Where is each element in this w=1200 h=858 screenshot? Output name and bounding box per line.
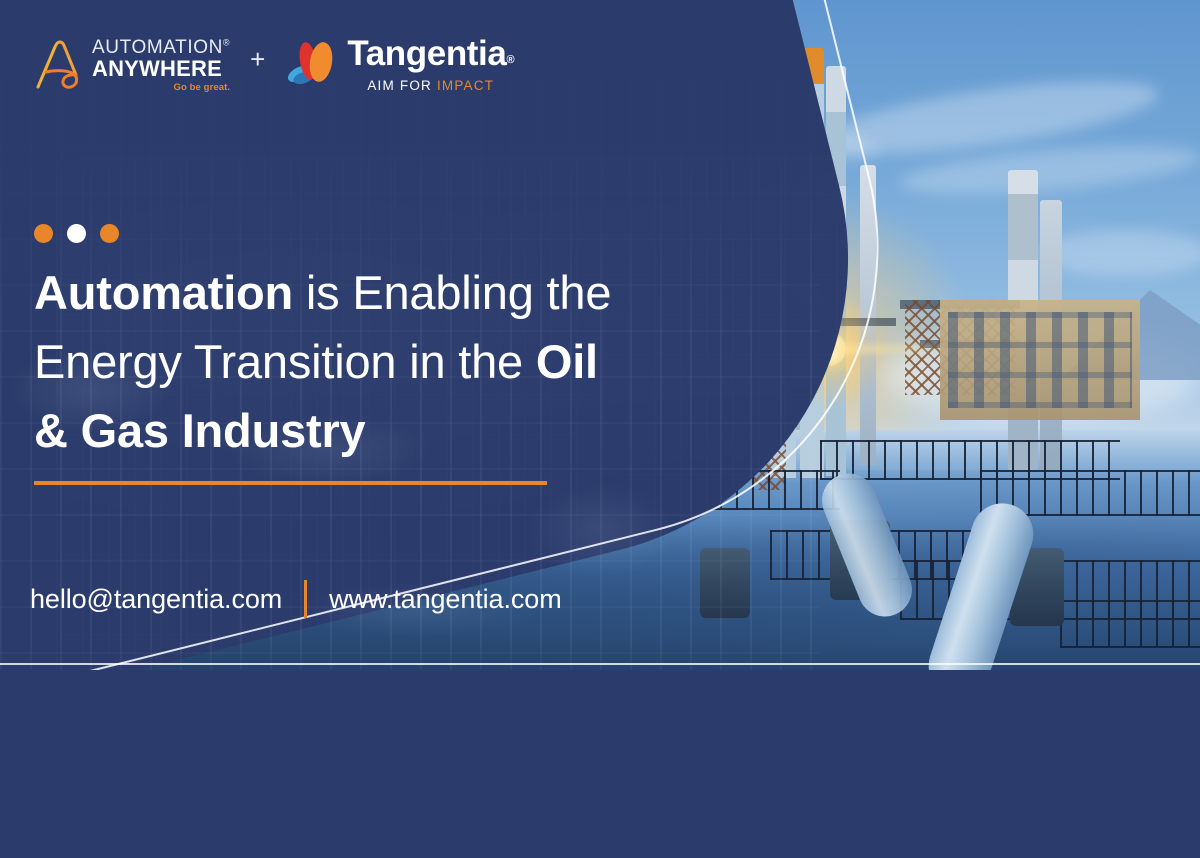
contact-email[interactable]: hello@tangentia.com [30,584,282,615]
dot-orange [100,224,119,243]
contact-bar: hello@tangentia.com www.tangentia.com [30,580,562,618]
slide-content: AUTOMATION® ANYWHERE Go be great. + Tang… [0,0,1200,858]
contact-divider [304,580,307,618]
registered-mark: ® [223,38,230,48]
automation-anywhere-logo[interactable]: AUTOMATION® ANYWHERE Go be great. [32,36,230,93]
registered-mark: ® [506,54,514,66]
tangentia-wordmark: Tangentia® [347,36,514,71]
tangentia-butterfly-icon [285,40,339,90]
dot-white [67,224,86,243]
partner-plus-separator: + [248,44,267,85]
aa-line1: AUTOMATION® [92,38,230,57]
headline-bold-lead: Automation [34,266,293,319]
dot-orange [34,224,53,243]
decorative-dots [34,224,119,243]
logo-lockup: AUTOMATION® ANYWHERE Go be great. + Tang… [32,36,514,93]
aa-tagline: Go be great. [92,83,230,93]
tangentia-logo[interactable]: Tangentia® AIM FOR IMPACT [285,36,514,93]
title-underline-rule [34,481,547,485]
aa-line2: ANYWHERE [92,58,230,80]
page-title: Automation is Enabling the Energy Transi… [34,258,634,465]
slide-canvas: AUTOMATION® ANYWHERE Go be great. + Tang… [0,0,1200,858]
contact-website[interactable]: www.tangentia.com [329,584,561,615]
tangentia-tagline: AIM FOR IMPACT [347,78,514,93]
automation-anywhere-a-icon [32,37,86,93]
